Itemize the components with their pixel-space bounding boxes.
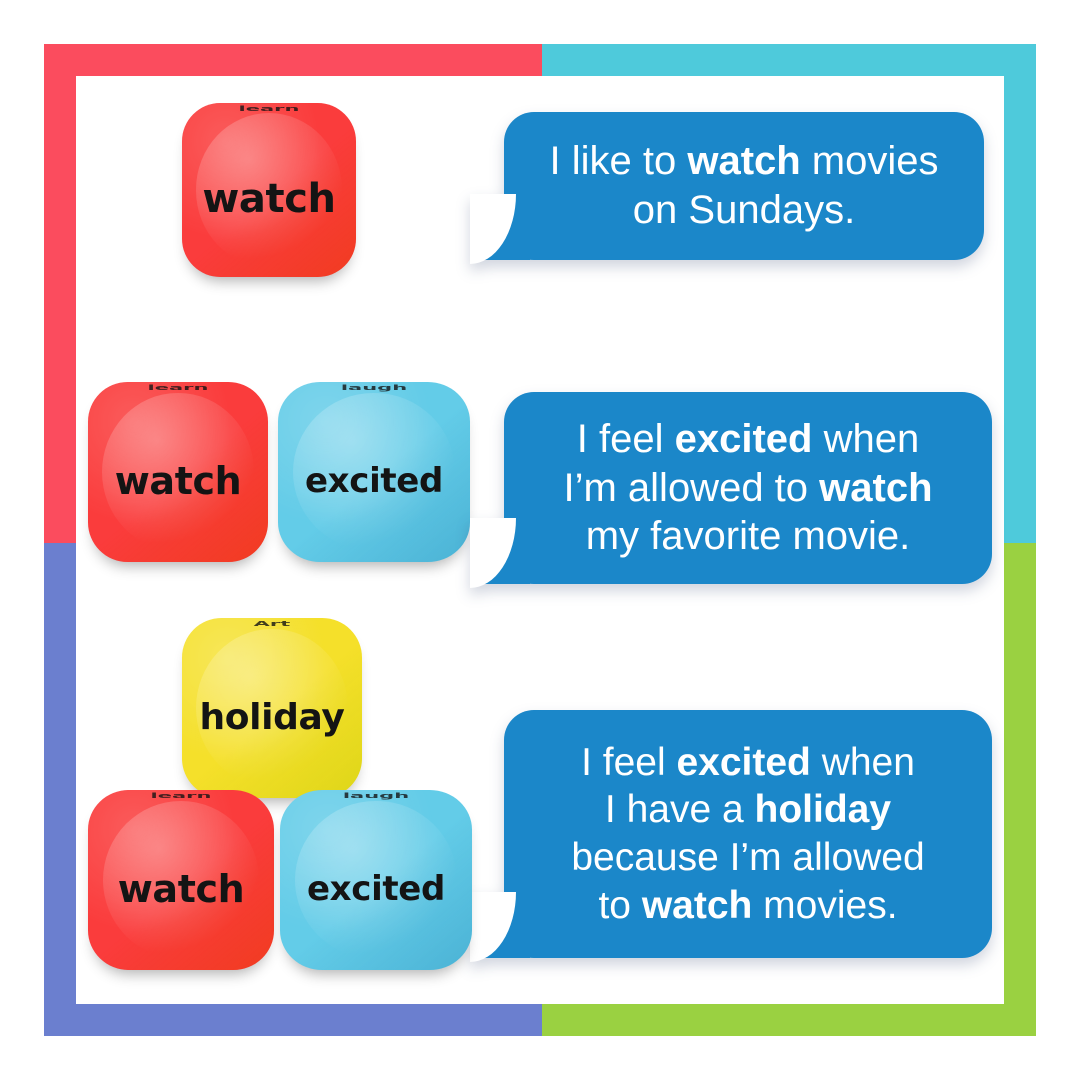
bubble-line: my favorite movie. [563,512,932,561]
bubble-keyword: excited [675,417,813,461]
bubble-run: I have a [605,788,755,831]
bubble-line: I feel excited when [571,739,924,787]
bubble-run: when [812,417,919,461]
bubble-run: I’m allowed to [563,466,819,510]
bubble-line: I’m allowed to watch [563,464,932,513]
frame-segment-right-bottom [1004,543,1036,1036]
frame-segment-left-bottom [44,543,76,1036]
bubble-2-text: I feel excited whenI’m allowed to watchm… [537,415,958,561]
poster-canvas: learn watch I like to watch movieson Sun… [0,0,1080,1080]
die-top-face-label: learn [88,792,274,800]
die-face-label: watch [202,176,335,222]
bubble-line: I feel excited when [563,415,932,464]
bubble-run: to [598,884,641,927]
speech-bubble-3[interactable]: I feel excited whenI have a holidaybecau… [504,710,992,958]
die-face-label: watch [115,459,242,503]
bubble-keyword: watch [819,466,932,510]
frame-segment-right-top [1004,44,1036,543]
die-top-face-label: laugh [280,792,472,800]
die-top-face-label: learn [182,105,356,113]
frame-segment-top-left [44,44,542,76]
bubble-run: on Sundays. [633,188,855,232]
bubble-run: I like to [549,139,687,183]
bubble-line: I like to watch movies [549,137,938,186]
bubble-line: on Sundays. [549,186,938,235]
frame-segment-top-right [542,44,1036,76]
die-face-label: excited [305,461,443,501]
frame-segment-bottom-right [542,1004,1036,1036]
bubble-keyword: holiday [755,788,892,831]
bubble-line: because I’m allowed [571,834,924,882]
die-red-watch-2[interactable]: learn watch [88,382,268,562]
bubble-keyword: watch [642,884,753,927]
bubble-run: I feel [577,417,675,461]
frame-segment-bottom-left [44,1004,542,1036]
die-face-label: excited [307,869,445,909]
die-red-watch-3[interactable]: learn watch [88,790,274,970]
bubble-run: movies. [752,884,897,927]
bubble-keyword: watch [687,139,800,183]
die-cyan-excited-2[interactable]: laugh excited [278,382,470,562]
speech-bubble-1[interactable]: I like to watch movieson Sundays. [504,112,984,260]
frame-segment-left-top [44,44,76,543]
die-top-face-label: Art [182,620,362,628]
bubble-line: to watch movies. [571,882,924,930]
bubble-run: movies [801,139,939,183]
bubble-keyword: excited [676,741,810,784]
die-yellow-holiday-3[interactable]: Art holiday [182,618,362,798]
speech-bubble-2[interactable]: I feel excited whenI’m allowed to watchm… [504,392,992,584]
die-red-watch-1[interactable]: learn watch [182,103,356,277]
bubble-run: my favorite movie. [586,514,911,558]
bubble-line: I have a holiday [571,786,924,834]
bubble-run: I feel [581,741,676,784]
bubble-run: because I’m allowed [571,836,924,879]
die-top-face-label: learn [88,384,268,392]
bubble-1-text: I like to watch movieson Sundays. [523,137,964,235]
bubble-run: when [811,741,915,784]
bubble-3-text: I feel excited whenI have a holidaybecau… [545,739,950,929]
die-face-label: holiday [200,697,345,738]
die-cyan-excited-3[interactable]: laugh excited [280,790,472,970]
die-top-face-label: laugh [278,384,470,392]
die-face-label: watch [118,867,245,911]
